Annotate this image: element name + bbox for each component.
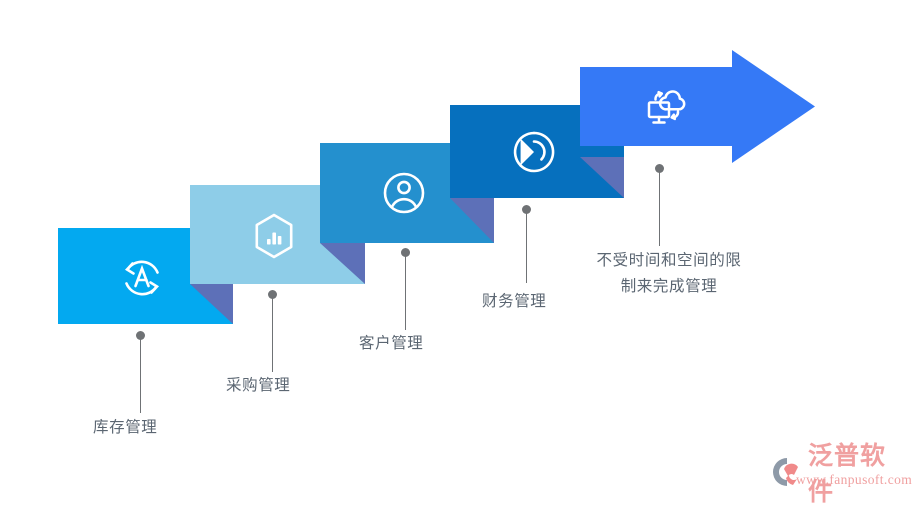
step-2-label: 采购管理 <box>226 372 290 398</box>
step-5-label-line1: 不受时间和空间的限 <box>569 247 769 273</box>
step-5-arrow-shape <box>580 50 815 163</box>
hexagon-bar-chart-icon <box>248 210 300 262</box>
step-5-cloud-access[interactable] <box>580 50 815 163</box>
watermark-url: www.fanpusoft.com <box>796 472 912 488</box>
step-5-label: 不受时间和空间的限 制来完成管理 <box>569 247 769 299</box>
refresh-circle-a-icon <box>116 252 168 304</box>
connector-3-line <box>405 256 406 330</box>
connector-1-line <box>140 339 141 413</box>
step-5-label-line2: 制来完成管理 <box>569 273 769 299</box>
step-3-label: 客户管理 <box>359 330 423 356</box>
step-4-label: 财务管理 <box>482 288 546 314</box>
connector-2-line <box>272 298 273 372</box>
step-2-shadow-triangle <box>320 243 365 284</box>
connector-4-line <box>526 213 527 283</box>
infographic-canvas: 库存管理 采购管理 客户管理 财务管理 不受时间和空间的限 制来完成管理 泛普软… <box>0 0 920 500</box>
pie-arrow-circle-icon <box>508 126 560 178</box>
step-3-shadow-triangle <box>450 198 494 243</box>
cloud-monitor-sync-icon <box>640 79 694 133</box>
step-1-label: 库存管理 <box>93 414 157 440</box>
step-1-shadow-triangle <box>190 284 233 324</box>
user-circle-icon <box>378 167 430 219</box>
step-4-shadow-triangle <box>580 157 624 198</box>
watermark: 泛普软件 www.fanpusoft.com <box>770 432 910 494</box>
connector-5-line <box>659 172 660 246</box>
